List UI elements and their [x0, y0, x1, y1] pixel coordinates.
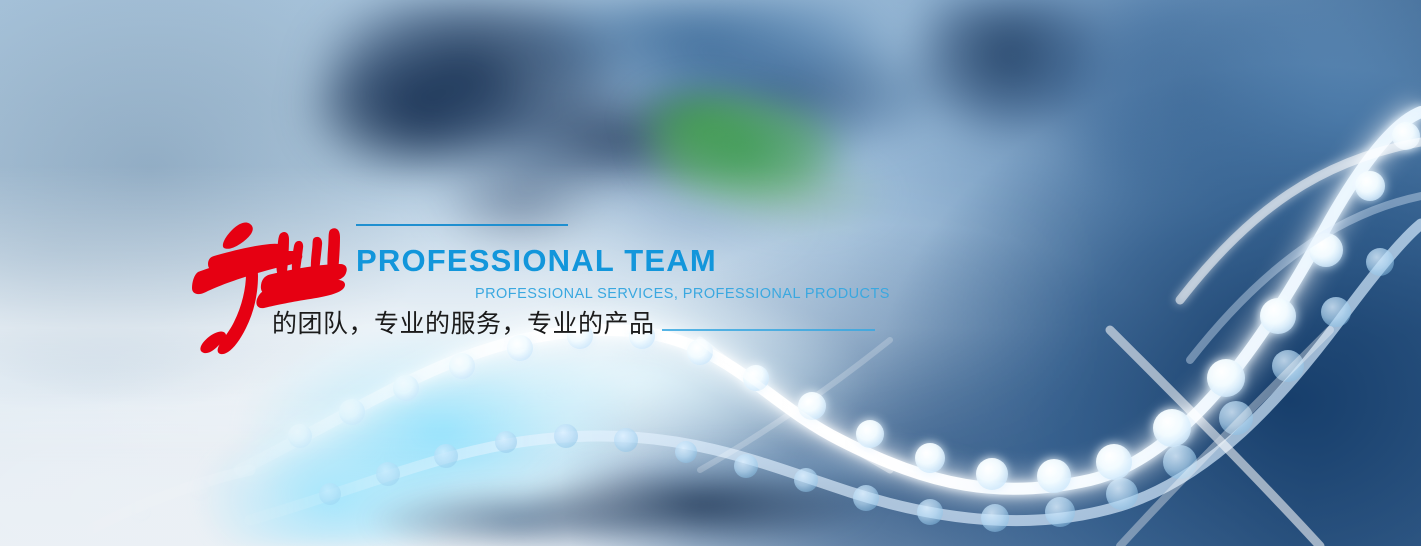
hero-banner: PROFESSIONAL TEAM PROFESSIONAL SERVICES,… — [0, 0, 1421, 546]
subtitle-chinese: 的团队，专业的服务，专业的产品 — [272, 309, 655, 339]
banner-content: PROFESSIONAL TEAM PROFESSIONAL SERVICES,… — [0, 0, 1421, 546]
page-title: PROFESSIONAL TEAM — [356, 245, 717, 276]
decorative-rule-bottom — [662, 329, 875, 331]
decorative-rule-top — [356, 224, 568, 226]
subtitle-english: PROFESSIONAL SERVICES, PROFESSIONAL PROD… — [475, 287, 890, 302]
